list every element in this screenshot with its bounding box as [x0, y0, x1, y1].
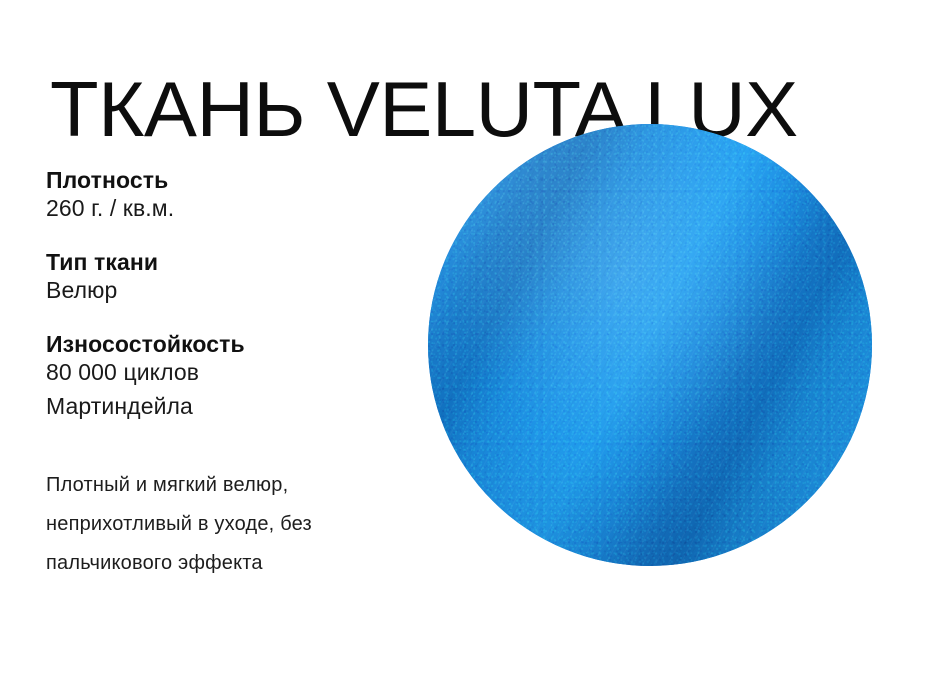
- fabric-swatch-image: [428, 124, 872, 566]
- spec-block-fabric-type: Тип ткани Велюр: [46, 248, 416, 304]
- spec-value-fabric-type: Велюр: [46, 276, 416, 304]
- spec-value-density: 260 г. / кв.м.: [46, 194, 416, 222]
- spec-label-fabric-type: Тип ткани: [46, 248, 416, 276]
- fabric-spec-slide: ТКАНЬ VELUTA LUX Плотность 260 г. / кв.м…: [0, 0, 934, 700]
- spec-label-density: Плотность: [46, 166, 416, 194]
- spec-block-density: Плотность 260 г. / кв.м.: [46, 166, 416, 222]
- spec-block-durability: Износостойкость 80 000 циклов Мартиндейл…: [46, 330, 416, 426]
- spec-label-durability: Износостойкость: [46, 330, 416, 358]
- spec-value-durability: 80 000 циклов: [46, 358, 416, 386]
- specifications-list: Плотность 260 г. / кв.м. Тип ткани Велюр…: [46, 166, 416, 427]
- fabric-description: Плотный и мягкий велюр, неприхотливый в …: [46, 466, 436, 583]
- spec-value-durability-unit: Мартиндейла: [46, 386, 416, 426]
- swatch-velour-texture: [428, 124, 872, 566]
